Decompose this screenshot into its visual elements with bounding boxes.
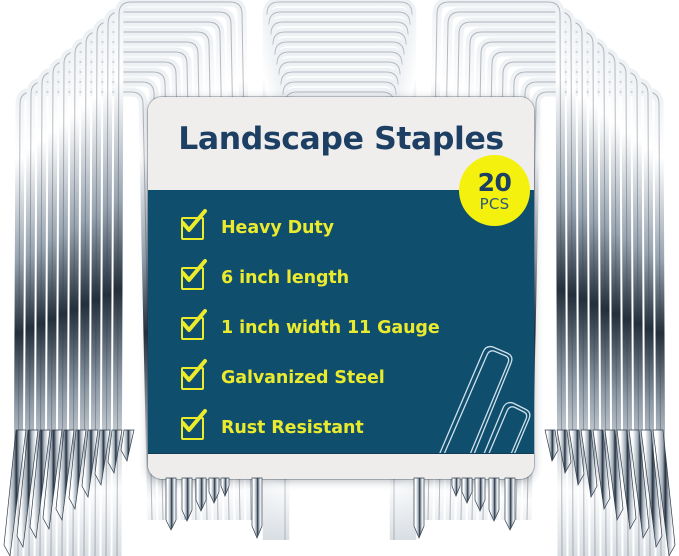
feature-label: 6 inch length bbox=[221, 268, 349, 288]
feature-label: Rust Resistant bbox=[221, 418, 364, 438]
checkbox-checked-icon bbox=[181, 367, 204, 390]
product-info-card: Landscape Staples bbox=[148, 97, 534, 479]
status-badge: 20 PCS bbox=[459, 155, 530, 226]
badge-unit: PCS bbox=[480, 197, 510, 212]
checkbox-checked-icon bbox=[181, 267, 204, 290]
card-footer bbox=[148, 453, 534, 479]
checkbox-checked-icon bbox=[181, 417, 204, 440]
page-title: Landscape Staples bbox=[148, 121, 534, 157]
card-body-panel: Heavy Duty 6 inch length 1 inch width 11… bbox=[148, 190, 534, 453]
checkbox-checked-icon bbox=[181, 317, 204, 340]
feature-label: Galvanized Steel bbox=[221, 368, 385, 388]
feature-label: 1 inch width 11 Gauge bbox=[221, 318, 440, 338]
badge-count: 20 bbox=[478, 170, 512, 195]
list-item: 1 inch width 11 Gauge bbox=[181, 308, 481, 348]
product-image-scene: Landscape Staples bbox=[0, 0, 679, 556]
list-item: Heavy Duty bbox=[181, 208, 481, 248]
list-item: Rust Resistant bbox=[181, 408, 481, 448]
list-item: Galvanized Steel bbox=[181, 358, 481, 398]
checkbox-checked-icon bbox=[181, 217, 204, 240]
feature-label: Heavy Duty bbox=[221, 218, 334, 238]
list-item: 6 inch length bbox=[181, 258, 481, 298]
feature-list: Heavy Duty 6 inch length 1 inch width 11… bbox=[181, 208, 481, 458]
